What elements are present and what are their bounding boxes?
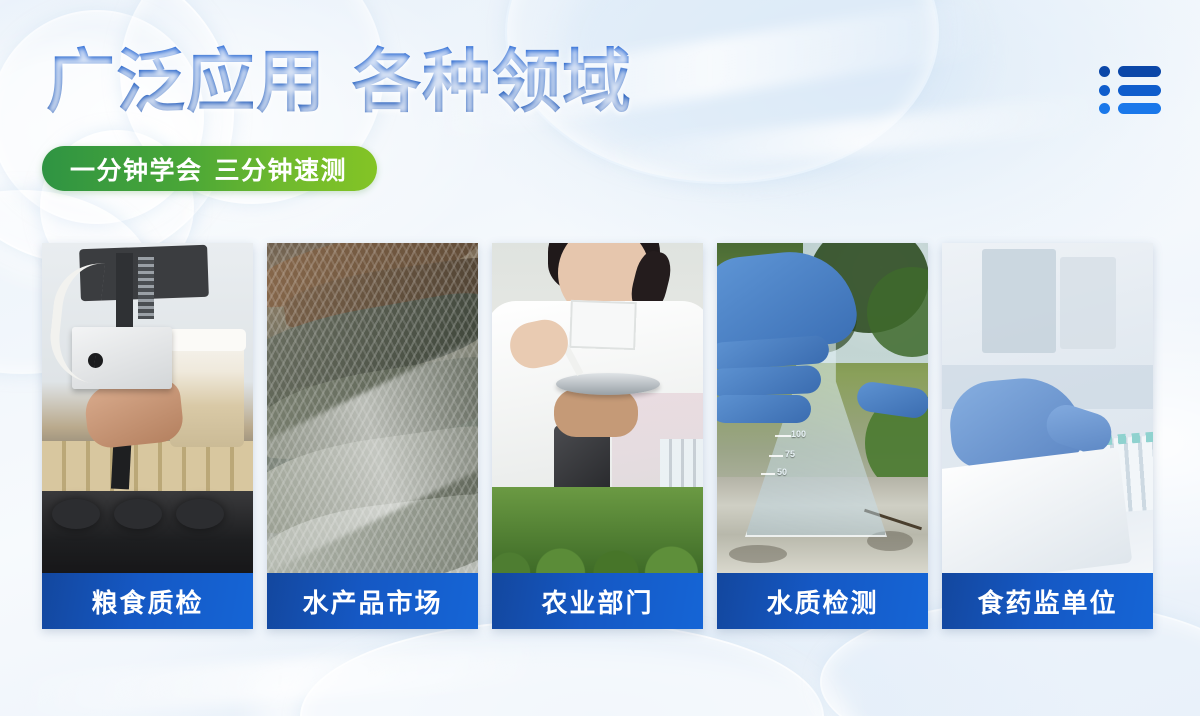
card-photo — [492, 243, 703, 573]
list-bullet-dot-icon — [1099, 85, 1110, 96]
banner-root: 广泛应用各种领域 一分钟学会三分钟速测 — [0, 0, 1200, 716]
water-quality-testing-photo: 100 75 50 — [717, 243, 928, 573]
list-line-icon — [1118, 85, 1161, 96]
card-photo — [267, 243, 478, 573]
list-line-icon — [1118, 103, 1161, 114]
application-card[interactable]: 粮食质检 — [42, 243, 253, 629]
list-menu-icon[interactable] — [1099, 66, 1161, 114]
flask-marking-75: 75 — [785, 449, 795, 459]
page-title-part-1: 广泛应用 — [46, 43, 326, 120]
tagline-part-2: 三分钟速测 — [215, 151, 348, 187]
page-title: 广泛应用各种领域 — [46, 40, 632, 124]
card-label: 农业部门 — [492, 573, 703, 629]
agriculture-department-photo — [492, 243, 703, 573]
application-card[interactable]: 水产品市场 — [267, 243, 478, 629]
application-card[interactable]: 食药监单位 — [942, 243, 1153, 629]
card-label: 粮食质检 — [42, 573, 253, 629]
application-card[interactable]: 农业部门 — [492, 243, 703, 629]
flask-marking-50: 50 — [777, 467, 787, 477]
tagline-part-1: 一分钟学会 — [70, 151, 203, 187]
card-photo — [942, 243, 1153, 573]
flask-marking-100: 100 — [791, 429, 806, 439]
list-bullet-dot-icon — [1099, 66, 1110, 77]
card-photo — [42, 243, 253, 573]
card-label: 食药监单位 — [942, 573, 1153, 629]
list-menu-row — [1099, 85, 1161, 96]
grain-quality-inspection-photo — [42, 243, 253, 573]
list-bullet-dot-icon — [1099, 103, 1110, 114]
application-card[interactable]: 100 75 50 水质检测 — [717, 243, 928, 629]
card-label: 水产品市场 — [267, 573, 478, 629]
application-card-list: 粮食质检 水产品市场 — [42, 243, 1158, 629]
list-menu-row — [1099, 103, 1161, 114]
list-menu-row — [1099, 66, 1161, 77]
food-drug-administration-photo — [942, 243, 1153, 573]
tagline-badge: 一分钟学会三分钟速测 — [42, 146, 377, 191]
aquatic-product-market-photo — [267, 243, 478, 573]
card-label: 水质检测 — [717, 573, 928, 629]
page-title-part-2: 各种领域 — [352, 43, 632, 120]
list-line-icon — [1118, 66, 1161, 77]
card-photo: 100 75 50 — [717, 243, 928, 573]
